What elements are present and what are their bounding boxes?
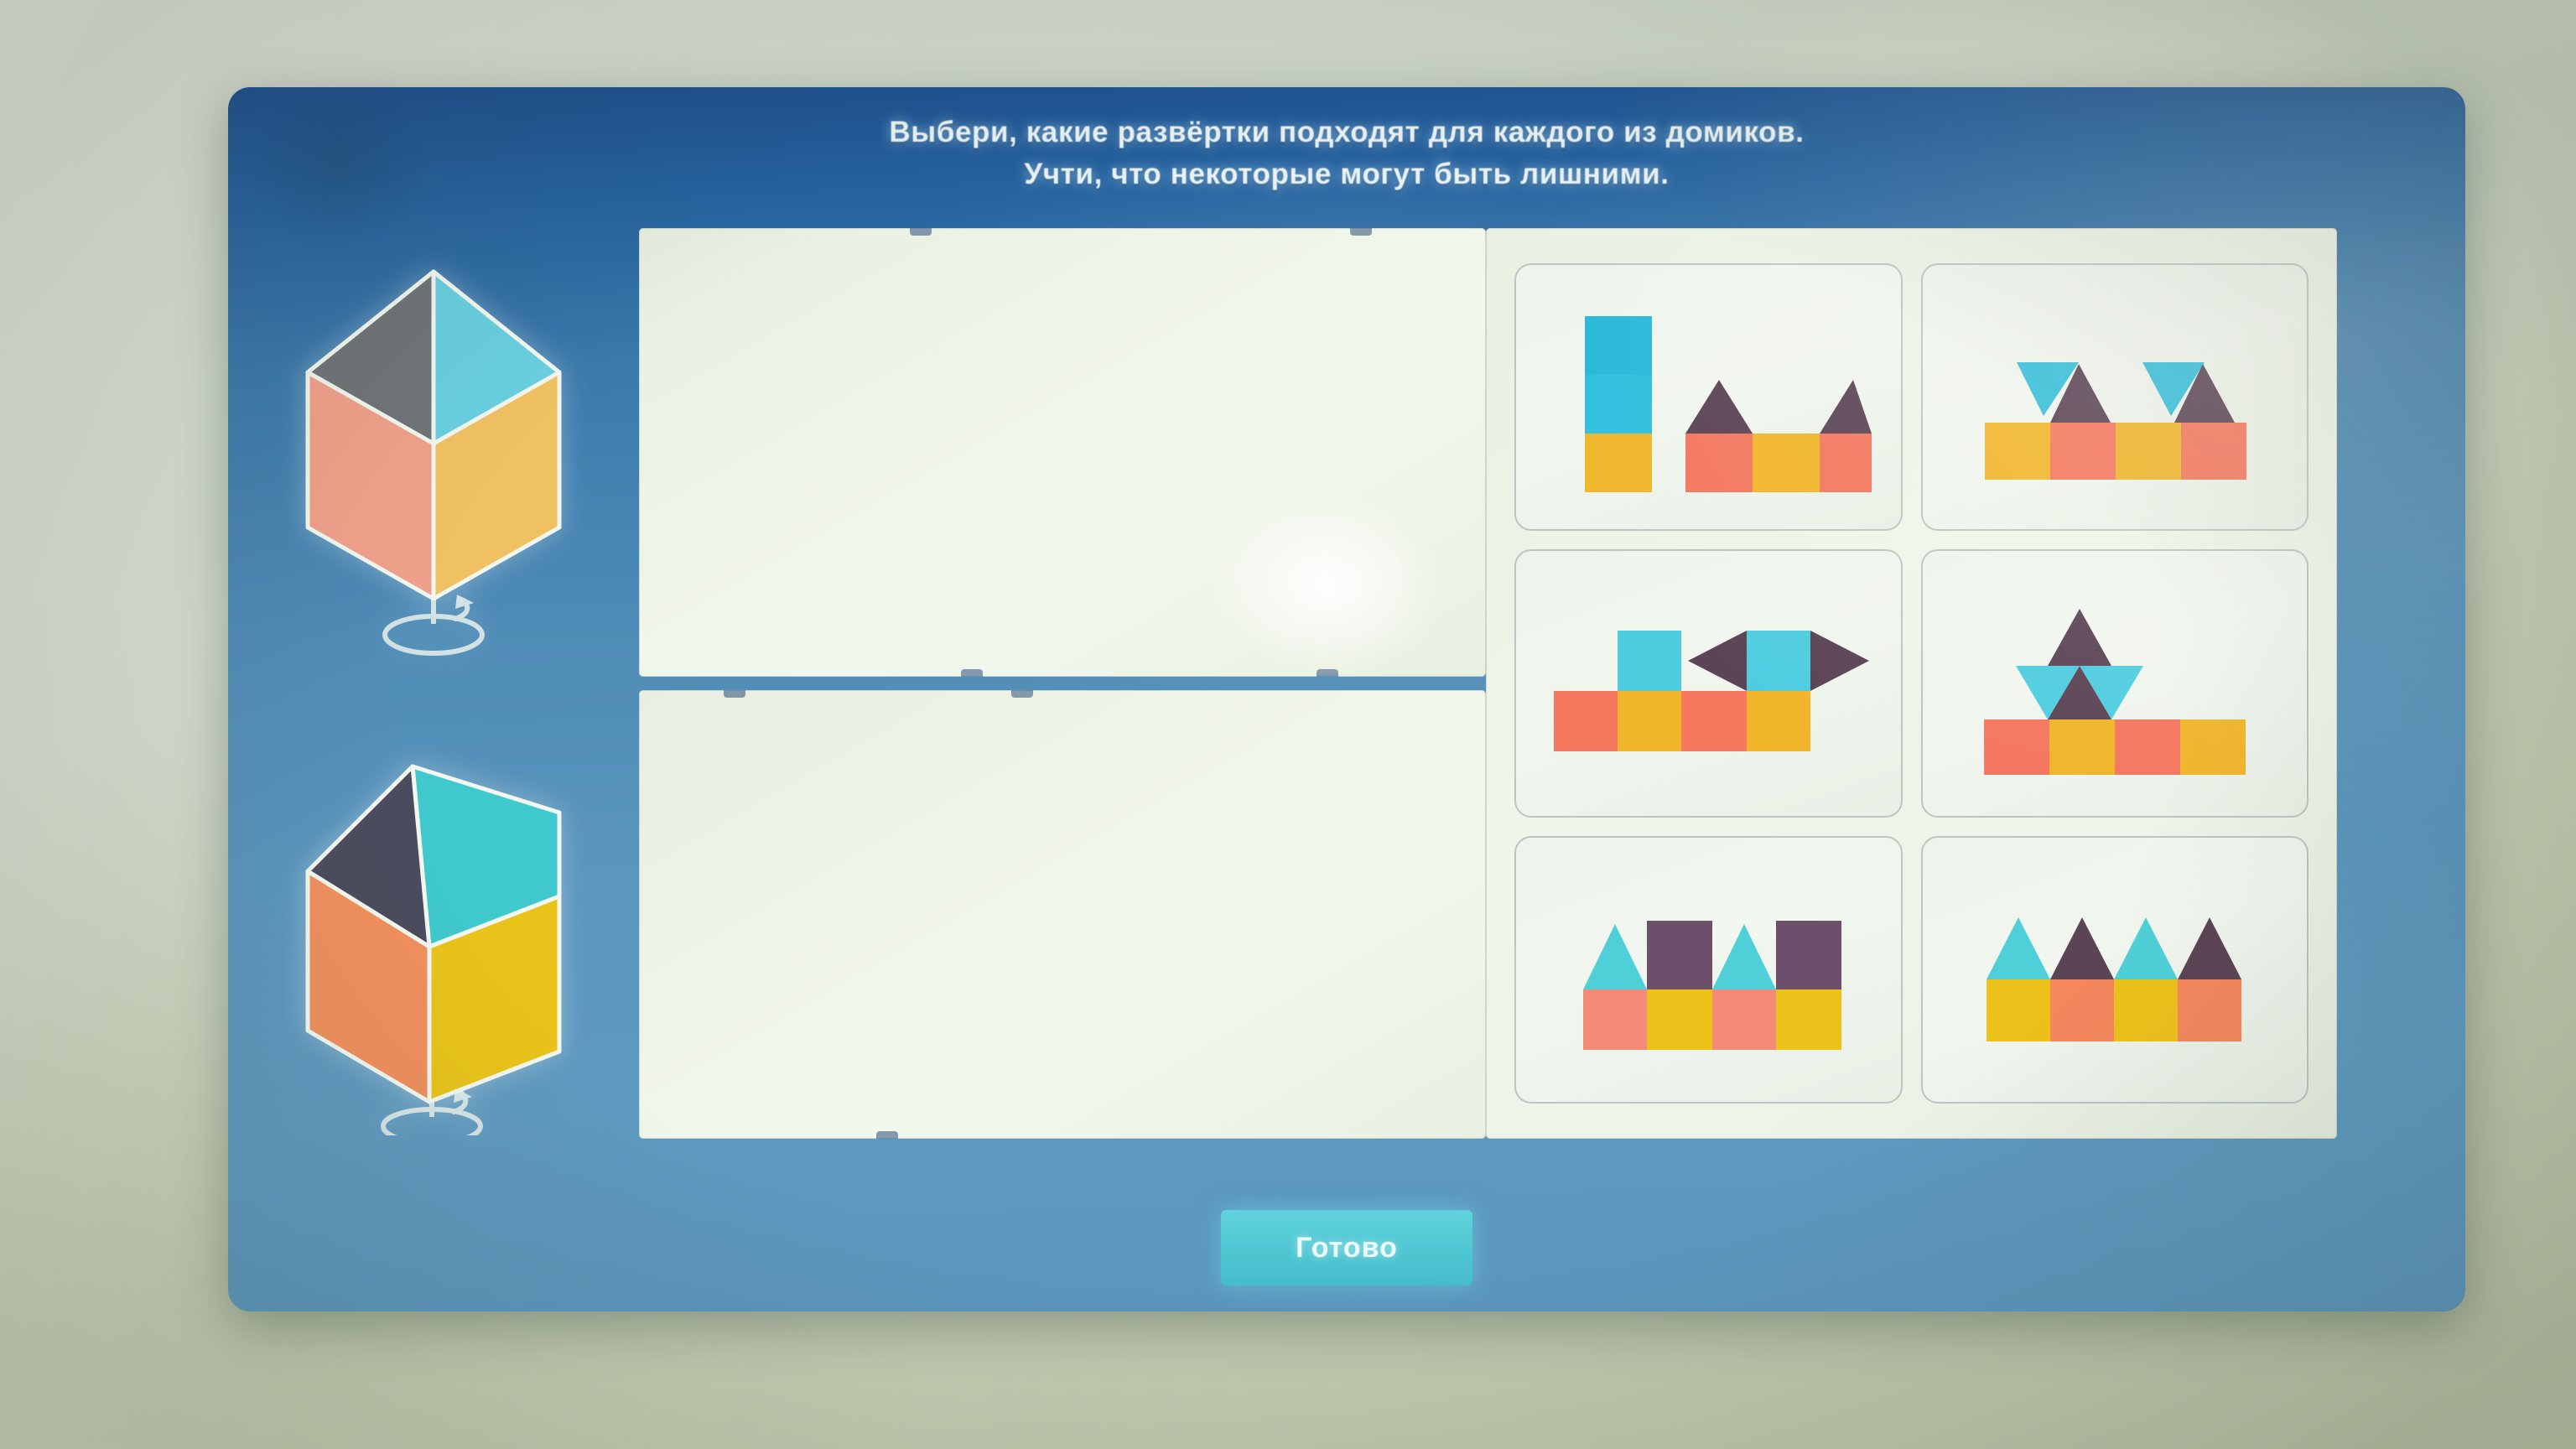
base-square-yellow [2049, 719, 2115, 775]
base-square-yellow [1585, 434, 1652, 492]
net-option-3[interactable] [1514, 549, 1903, 817]
dropzone-house-2[interactable] [639, 690, 1486, 1139]
base-square-salmon [2181, 423, 2246, 480]
rotate-icon [385, 595, 482, 653]
exercise-body [228, 220, 2465, 1184]
done-button[interactable]: Готово [1221, 1210, 1472, 1285]
options-tray [1486, 228, 2337, 1139]
net-option-1[interactable] [1514, 263, 1903, 531]
net-option-5[interactable] [1514, 836, 1903, 1104]
base-square-yellow [1747, 691, 1810, 751]
instruction-line-2: Учти, что некоторые могут быть лишними. [1024, 158, 1669, 191]
zone-nub [961, 669, 983, 677]
dropzone-house-1[interactable] [639, 228, 1486, 677]
base-square-yellow [1618, 691, 1681, 751]
house-slot-1[interactable] [257, 238, 610, 674]
dark-triangle-up [2048, 609, 2111, 666]
exercise-card: Выбери, какие развёртки подходят для каж… [228, 87, 2465, 1311]
base-square-salmon [2115, 719, 2180, 775]
net-option-2[interactable] [1921, 263, 2309, 531]
net-option-6-figure[interactable] [1951, 885, 2278, 1053]
zone-nub [1317, 669, 1338, 677]
base-square-salmon [1984, 719, 2049, 775]
dark-triangle-left [1688, 631, 1747, 691]
base-square-yellow [1647, 989, 1712, 1050]
base-square-yellow [2180, 719, 2246, 775]
base-square-salmon [2050, 979, 2114, 1041]
dark-square [1776, 921, 1841, 989]
house-pyramid-roof-icon[interactable] [283, 247, 584, 666]
base-square-salmon [1681, 691, 1747, 751]
dark-triangle [1685, 380, 1753, 434]
net-option-3-figure[interactable] [1540, 595, 1876, 771]
cyan-triangle [1987, 917, 2050, 979]
base-square-yellow [1776, 989, 1841, 1050]
instruction-line-1: Выбери, какие развёртки подходят для каж… [889, 116, 1804, 149]
base-square-salmon [1554, 691, 1618, 751]
cyan-triangle [1583, 924, 1647, 989]
net-option-1-figure[interactable] [1545, 301, 1872, 494]
cyan-square [1585, 316, 1652, 375]
base-square-salmon [1820, 434, 1872, 492]
zone-nub [910, 228, 932, 236]
dark-square [1647, 921, 1712, 989]
cyan-square [1618, 631, 1681, 691]
cyan-square [1585, 375, 1652, 434]
base-square-salmon [1583, 989, 1647, 1050]
dark-triangle [2050, 917, 2114, 979]
zone-nub [1011, 690, 1033, 698]
options-tray-wrapper [1486, 220, 2465, 1139]
zone-nub [1350, 228, 1372, 236]
base-square-yellow [1985, 423, 2050, 480]
house-gable-roof-icon[interactable] [283, 716, 584, 1135]
base-square-yellow [2116, 423, 2181, 480]
cyan-triangle [1712, 924, 1776, 989]
dark-triangle-right [1810, 631, 1869, 691]
base-square-salmon [1685, 434, 1753, 492]
zone-nub [724, 690, 745, 698]
houses-column [228, 220, 639, 1184]
base-square-yellow [1753, 434, 1820, 492]
base-square-salmon [1712, 989, 1776, 1050]
footer-bar: Готово [228, 1184, 2465, 1311]
net-option-6[interactable] [1921, 836, 2309, 1104]
net-option-4[interactable] [1921, 549, 2309, 817]
house-slot-2[interactable] [257, 708, 610, 1144]
base-square-yellow [1987, 979, 2050, 1041]
dark-triangle [1820, 380, 1872, 434]
cyan-square [1747, 631, 1810, 691]
dropzone-column [639, 220, 1486, 1139]
zone-nub [876, 1131, 898, 1139]
dark-triangle [2178, 917, 2241, 979]
base-square-salmon [2050, 423, 2116, 480]
base-square-salmon [2178, 979, 2241, 1041]
net-option-5-figure[interactable] [1545, 885, 1872, 1053]
cyan-triangle [2114, 917, 2178, 979]
net-option-2-figure[interactable] [1951, 314, 2278, 481]
net-option-4-figure[interactable] [1947, 587, 2283, 780]
instruction-header: Выбери, какие развёртки подходят для каж… [228, 87, 2465, 220]
base-square-yellow [2114, 979, 2178, 1041]
